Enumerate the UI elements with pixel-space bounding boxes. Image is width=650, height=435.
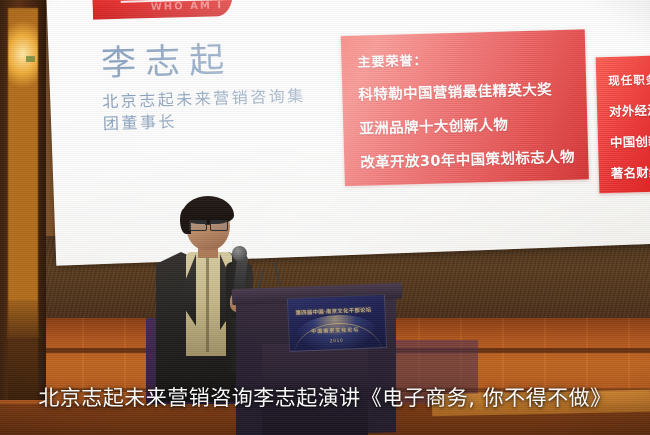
speaker-name: 李志起	[101, 41, 310, 82]
glasses-lens-right	[210, 220, 228, 231]
projection-screen: 我是谁？ WHO AM I 李志起 北京志起未来营销咨询集团董事长 主要荣誉： …	[46, 0, 650, 266]
roles-box: 现任职务： 对外经济贸易大学MBA教 中国创新营销论坛主席 著名财经媒体评论员	[596, 54, 650, 194]
podium-sign: 第四届中国·南京文化干部论坛 中国南京文化论坛 2010	[287, 294, 387, 352]
podium-sign-line-3: 2010	[330, 339, 344, 345]
ribbon-en-label: WHO AM I	[151, 0, 224, 13]
honors-heading: 主要荣誉：	[357, 45, 585, 70]
slide-ribbon-banner: 我是谁？ WHO AM I	[92, 0, 233, 20]
roles-line-1: 对外经济贸易大学MBA教	[609, 98, 650, 120]
glasses-lens-left	[189, 220, 207, 231]
speaker-shirt-placket	[206, 254, 209, 352]
honors-line-1: 科特勒中国营销最佳精英大奖	[358, 77, 586, 104]
glasses-icon	[189, 220, 229, 229]
column-speck	[26, 56, 35, 62]
photo-caption: 北京志起未来营销咨询李志起演讲《电子商务, 你不得不做》	[0, 382, 650, 412]
speaker-title: 北京志起未来营销咨询集团董事长	[102, 85, 311, 134]
conference-photo: 我是谁？ WHO AM I 李志起 北京志起未来营销咨询集团董事长 主要荣誉： …	[0, 0, 650, 435]
speaker-name-block: 李志起 北京志起未来营销咨询集团董事长	[101, 41, 311, 134]
honors-line-2: 亚洲品牌十大创新人物	[359, 111, 587, 138]
decorative-column	[0, 0, 46, 400]
honors-box: 主要荣誉： 科特勒中国营销最佳精英大奖 亚洲品牌十大创新人物 改革开放30年中国…	[341, 29, 589, 186]
roles-heading: 现任职务：	[608, 70, 650, 89]
honors-line-3: 改革开放30年中国策划标志人物	[360, 145, 588, 172]
roles-line-2: 中国创新营销论坛主席	[610, 128, 650, 150]
roles-line-3: 著名财经媒体评论员	[611, 159, 650, 181]
